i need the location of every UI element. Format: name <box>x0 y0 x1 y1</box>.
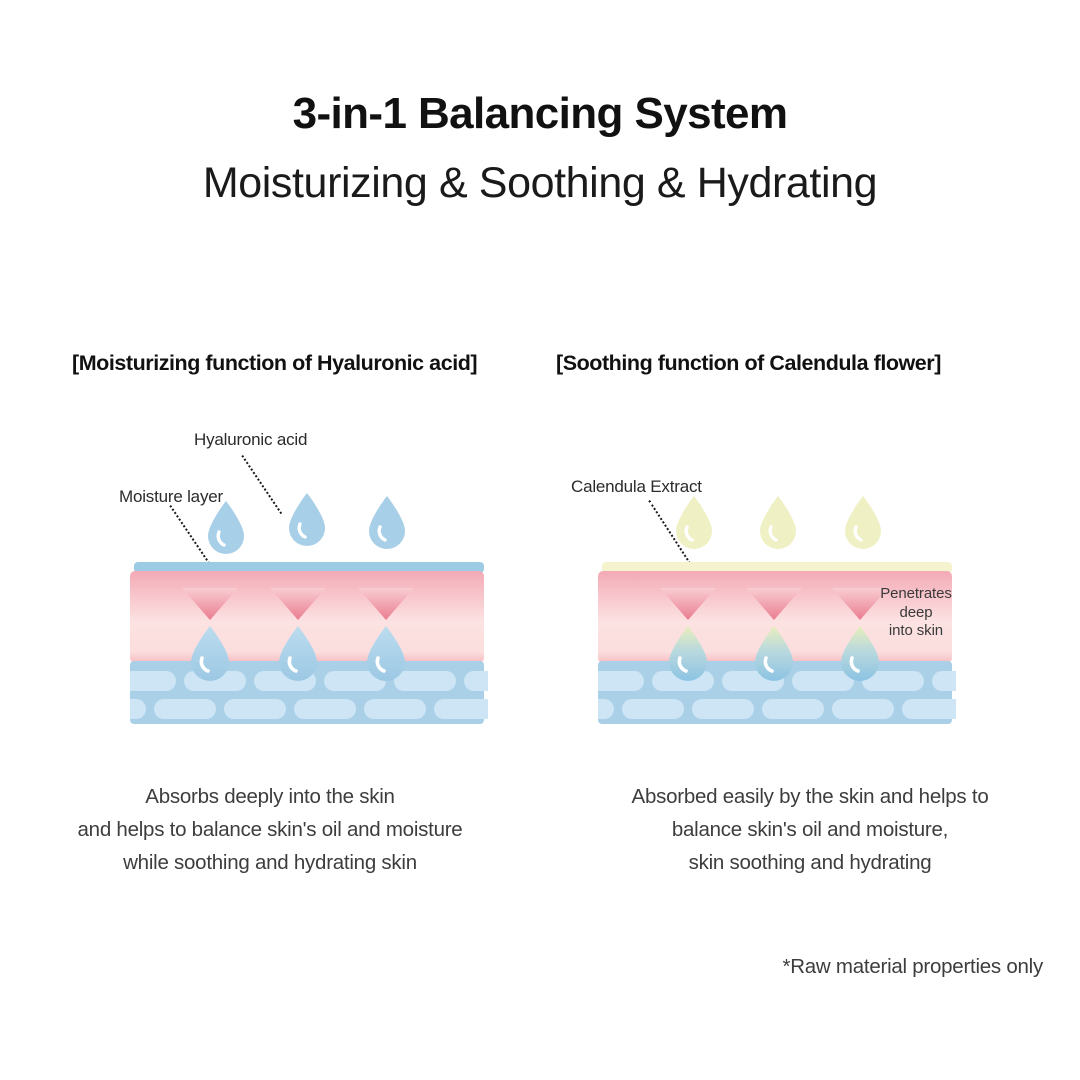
panel-soothing: Calendula Extract <box>540 0 1080 1080</box>
panel-moisturizing: Hyaluronic acid Moisture layer <box>0 0 540 1080</box>
droplet-hyaluronic-1 <box>204 500 248 556</box>
caption-moisturizing-line2: and helps to balance skin's oil and mois… <box>0 813 540 846</box>
caption-moisturizing-line3: while soothing and hydrating skin <box>0 846 540 879</box>
droplet-calendula-3 <box>841 495 885 551</box>
caption-moisturizing-line1: Absorbs deeply into the skin <box>0 780 540 813</box>
note-penetrates-line1: Penetrates <box>874 585 958 604</box>
label-hyaluronic-acid: Hyaluronic acid <box>194 430 307 450</box>
note-penetrates-line3: into skin <box>874 622 958 641</box>
skin-cross-section-moisturizing <box>130 558 488 728</box>
droplet-hyaluronic-3 <box>365 495 409 551</box>
caption-soothing-line2: balance skin's oil and moisture, <box>540 813 1080 846</box>
droplet-calendula-1 <box>672 495 716 551</box>
note-penetrates-line2: deep <box>874 604 958 623</box>
droplet-hyaluronic-2 <box>285 492 329 548</box>
caption-soothing-line3: skin soothing and hydrating <box>540 846 1080 879</box>
label-calendula-extract: Calendula Extract <box>571 477 702 497</box>
caption-soothing-line1: Absorbed easily by the skin and helps to <box>540 780 1080 813</box>
note-penetrates-deep: Penetrates deep into skin <box>874 585 958 641</box>
skin-cross-section-soothing <box>598 558 956 728</box>
droplet-calendula-2 <box>756 495 800 551</box>
caption-moisturizing: Absorbs deeply into the skin and helps t… <box>0 780 540 880</box>
caption-soothing: Absorbed easily by the skin and helps to… <box>540 780 1080 880</box>
footnote-raw-material: *Raw material properties only <box>0 955 1043 979</box>
